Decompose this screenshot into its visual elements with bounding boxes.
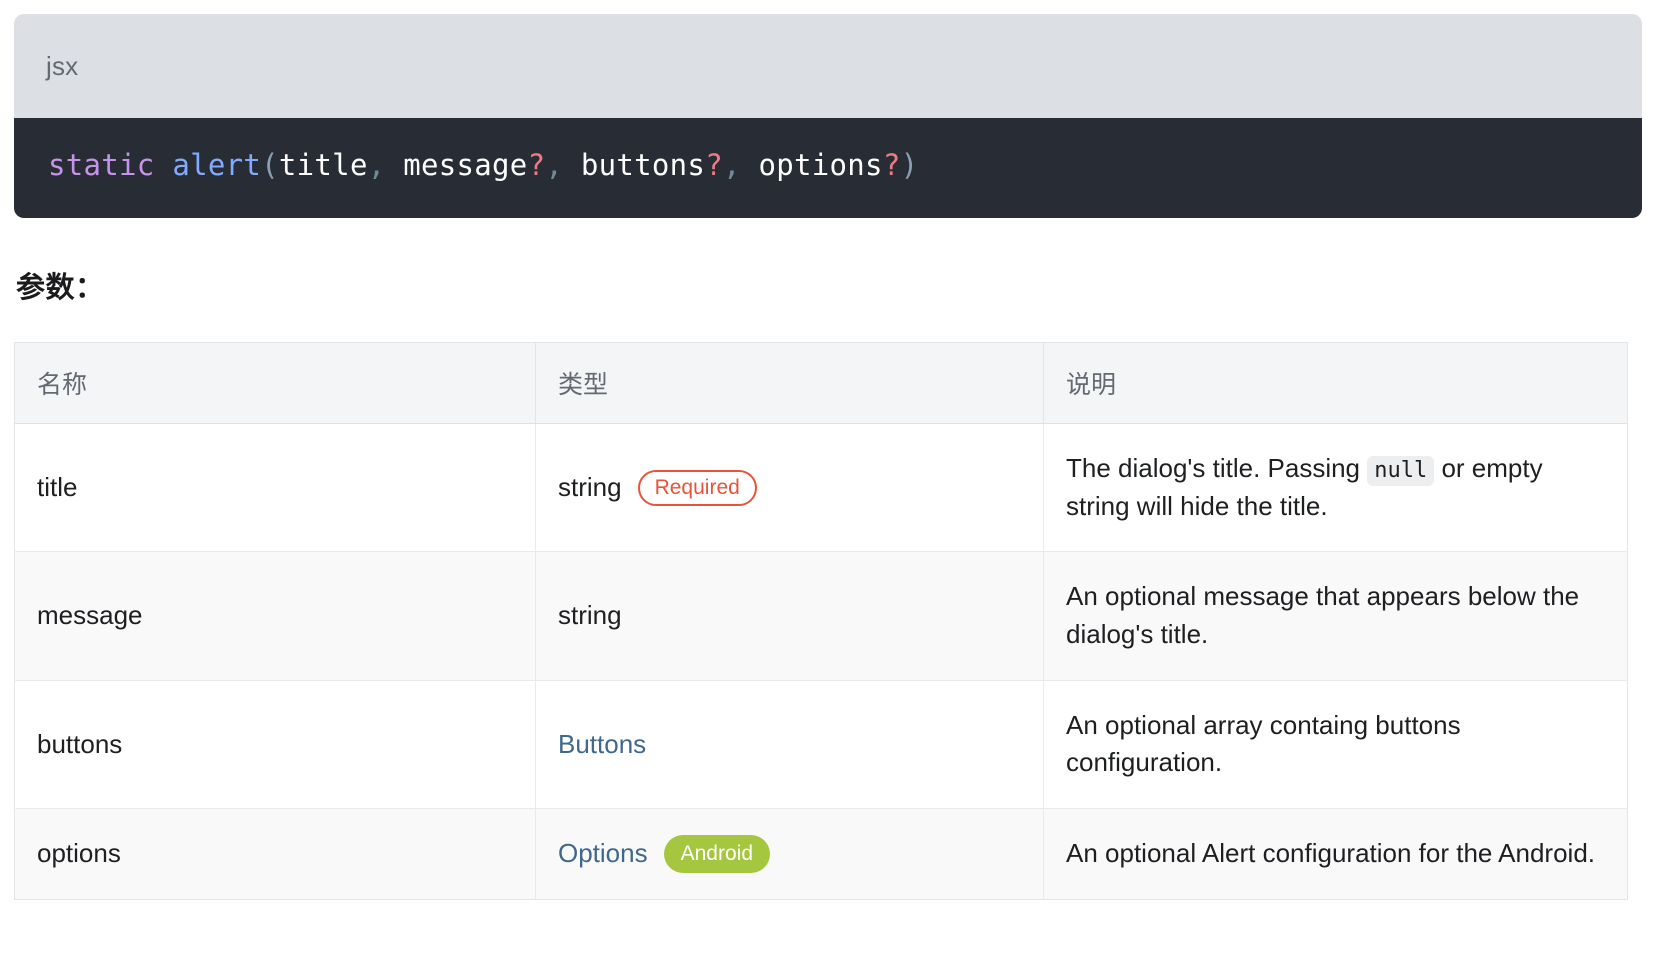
param-name-cell: message [15,552,536,680]
status-badge-required: Required [638,470,757,506]
param-type-text: string [558,597,622,635]
parameters-table: 名称 类型 说明 title string Required The dialo… [14,342,1628,900]
param-type-link-buttons[interactable]: Buttons [558,726,646,764]
token-keyword-static: static [48,148,155,182]
table-row: message string An optional message that … [15,552,1628,680]
param-name-cell: options [15,809,536,900]
table-row: title string Required The dialog's title… [15,424,1628,552]
inline-code-null: null [1367,456,1434,486]
code-block-header: jsx [14,14,1642,118]
param-type-link-options[interactable]: Options [558,835,648,873]
column-header-description: 说明 [1044,343,1628,424]
platform-badge-android: Android [664,835,770,873]
column-header-name: 名称 [15,343,536,424]
code-block-body[interactable]: static alert(title, message?, buttons?, … [14,118,1642,218]
table-row: buttons Buttons An optional array contai… [15,680,1628,808]
token-space [155,148,173,182]
code-signature-line: static alert(title, message?, buttons?, … [48,144,918,188]
description-text-part1: The dialog's title. Passing [1066,453,1367,483]
param-description-cell: An optional Alert configuration for the … [1044,809,1628,900]
token-optional-options: ? [883,148,901,182]
token-comma-1: , [368,148,404,182]
code-language-label: jsx [46,51,78,82]
param-type-text: string [558,469,622,507]
table-body: title string Required The dialog's title… [15,424,1628,900]
param-type-cell: Options Android [536,809,1044,900]
column-header-type: 类型 [536,343,1044,424]
table-header-row: 名称 类型 说明 [15,343,1628,424]
param-type-cell: string [536,552,1044,680]
token-close-paren: ) [901,148,919,182]
table-row: options Options Android An optional Aler… [15,809,1628,900]
token-param-options: options [759,148,883,182]
token-function-alert: alert [172,148,261,182]
token-optional-message: ? [528,148,546,182]
token-param-title: title [279,148,368,182]
token-optional-buttons: ? [705,148,723,182]
param-type-cell: string Required [536,424,1044,552]
code-block: jsx static alert(title, message?, button… [14,14,1642,218]
table-head: 名称 类型 说明 [15,343,1628,424]
param-description-cell: An optional array containg buttons confi… [1044,680,1628,808]
token-comma-2: , [545,148,581,182]
param-name-cell: title [15,424,536,552]
param-type-cell: Buttons [536,680,1044,808]
token-param-message: message [403,148,527,182]
param-description-cell: An optional message that appears below t… [1044,552,1628,680]
param-description-cell: The dialog's title. Passing null or empt… [1044,424,1628,552]
token-open-paren: ( [261,148,279,182]
documentation-page: jsx static alert(title, message?, button… [0,0,1658,958]
token-comma-3: , [723,148,759,182]
param-name-cell: buttons [15,680,536,808]
parameters-heading: 参数： [16,264,1642,306]
token-param-buttons: buttons [581,148,705,182]
